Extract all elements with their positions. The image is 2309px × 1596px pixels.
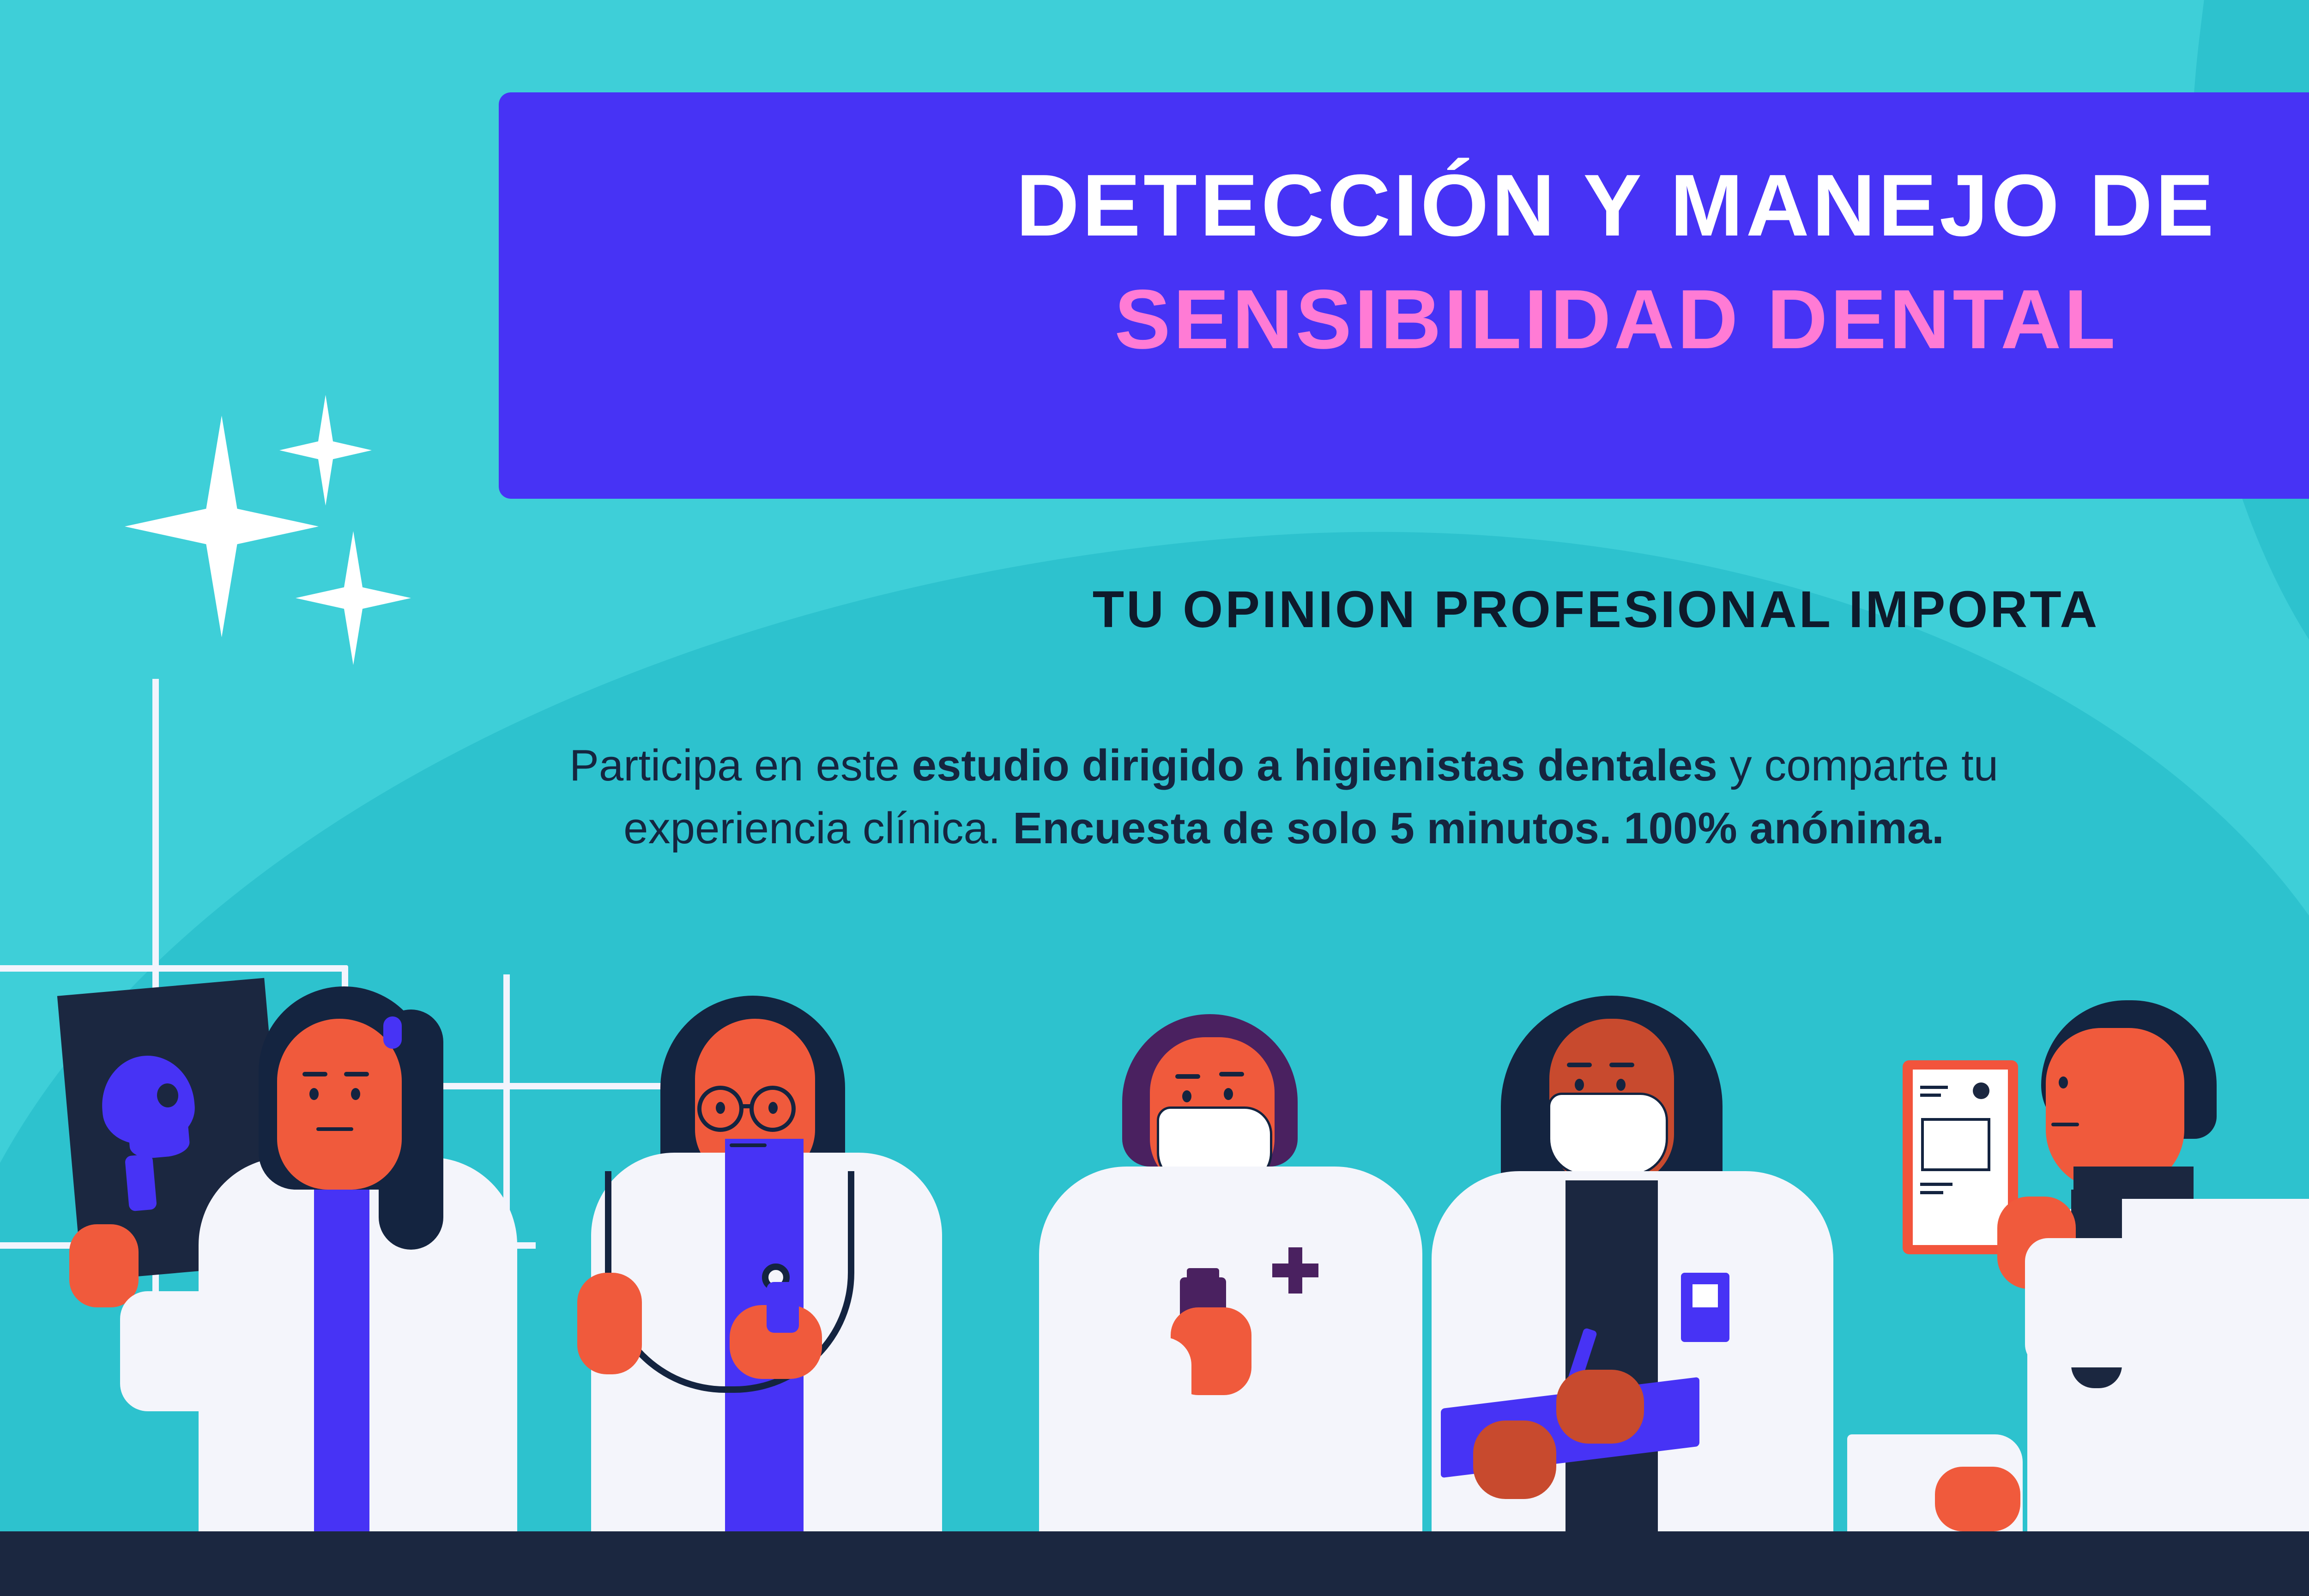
body-line1-bold: estudio dirigido a higienistas dentales [912,741,1717,790]
figure-hygienist-with-xray [14,973,531,1531]
inner-shirt [314,1171,369,1531]
hand-writing [1556,1370,1644,1444]
sleeve [1062,1337,1191,1457]
eye [1575,1079,1584,1091]
chart-line [1920,1094,1941,1097]
illustration-strip [0,973,2309,1596]
body-line2-pre: experiencia clínica. [623,804,1013,853]
body-line1-pre: Participa en este [569,741,912,790]
mouth [730,1143,767,1147]
promo-banner: DETECCIÓN Y MANEJO DE SENSIBILIDAD DENTA… [0,0,2309,1596]
xray-spine [125,1154,157,1212]
eyebrow [344,1072,369,1076]
eye [351,1088,360,1100]
body-line1-post: y comparte tu [1717,741,1998,790]
face [277,1019,402,1190]
eyebrow [302,1072,327,1076]
title-line-2: SENSIBILIDAD DENTAL [499,277,2309,361]
id-badge-photo [1692,1284,1718,1307]
chart-dot [1973,1082,1989,1099]
eyebrow [1567,1063,1592,1067]
title-line-1: DETECCIÓN Y MANEJO DE [499,162,2309,249]
eye [1182,1090,1191,1102]
body-copy: Participa en este estudio dirigido a hig… [199,734,2309,860]
figure-dentist-with-medicine [1011,1005,1464,1531]
id-badge [1681,1273,1729,1342]
floor-bar [0,1531,2309,1596]
eyebrow [1175,1074,1200,1079]
figure-dentist-with-chart [1843,986,2309,1531]
sleeve [120,1291,272,1411]
hand-upper [69,1224,139,1307]
chart-table [1921,1118,1990,1171]
figure-hygienist-with-clipboard [1422,986,1856,1531]
sparkle-icon [279,395,372,506]
subtitle: TU OPINION PROFESIONAL IMPORTA [0,580,2309,639]
eyebrow [1219,1072,1244,1076]
eye [1224,1088,1233,1100]
figure-hygienist-with-stethoscope [545,986,1007,1531]
face-mask-icon [1548,1093,1668,1176]
chart-line [1920,1086,1948,1089]
eyebrow [1609,1063,1634,1067]
title-plaque: DETECCIÓN Y MANEJO DE SENSIBILIDAD DENTA… [499,92,2309,499]
eye [1616,1079,1626,1091]
eye [2059,1076,2068,1088]
mouth [316,1127,353,1131]
eye [309,1088,319,1100]
sleeve [2025,1238,2150,1367]
bottle-cap [1187,1268,1219,1282]
hand-raised [577,1273,642,1374]
cross-badge-icon [1272,1263,1318,1277]
wristwatch-icon [767,1282,799,1333]
body-line2-bold: Encuesta de solo 5 minutos. 100% anónima… [1013,804,1944,853]
face [2046,1028,2184,1190]
eye [768,1102,778,1114]
chart-line [1920,1191,1943,1194]
hand-holding-clipboard [1473,1421,1556,1499]
eye [716,1102,725,1114]
hair-tie [383,1016,402,1049]
mouth [2051,1123,2079,1126]
chart-line [1920,1183,1952,1186]
hand-holding-paper [1935,1467,2020,1531]
glasses-bridge [743,1104,752,1108]
